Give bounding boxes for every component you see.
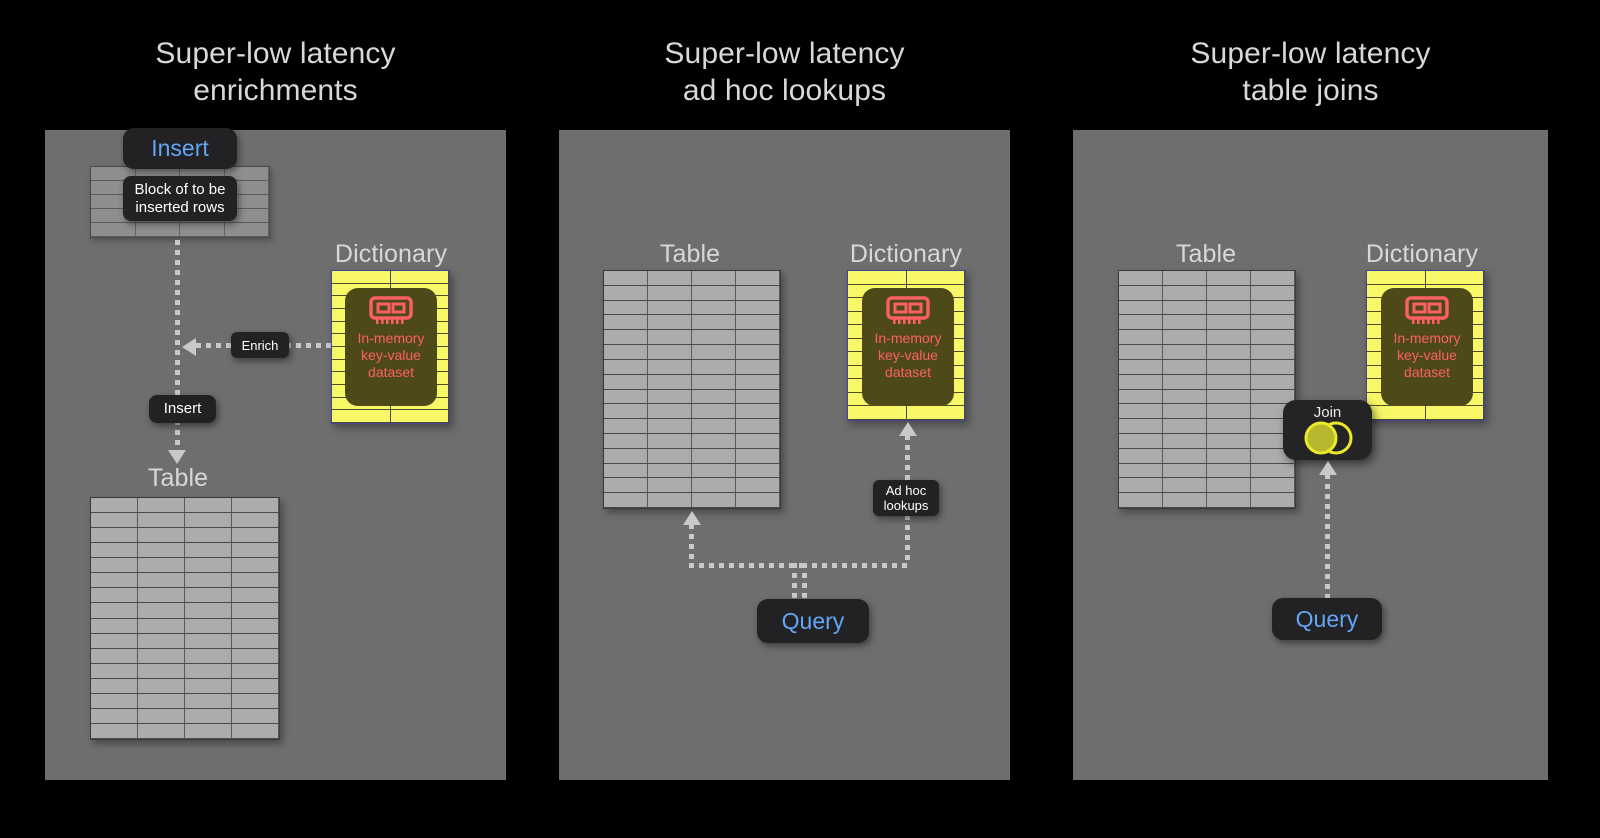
table-cell — [232, 573, 279, 588]
main-table-2 — [603, 270, 781, 509]
panel-title-ad-hoc-lookups: Super-low latency ad hoc lookups — [559, 35, 1010, 109]
in-memory-dataset-box-1: In-memory key-value dataset — [345, 288, 437, 406]
table-cell — [232, 664, 279, 679]
table-cell — [138, 709, 185, 724]
table-cell — [185, 573, 232, 588]
table-cell — [1119, 375, 1163, 390]
table-cell — [1119, 271, 1163, 286]
table-cell — [1207, 315, 1251, 330]
table-cell — [138, 649, 185, 664]
table-cell — [1119, 419, 1163, 434]
ram-memory-icon — [886, 296, 930, 326]
table-cell — [648, 330, 692, 345]
table-query-arrowhead — [683, 511, 701, 525]
table-cell — [736, 345, 780, 360]
table-cell — [736, 315, 780, 330]
table-cell — [736, 464, 780, 479]
table-cell — [604, 345, 648, 360]
table-cell — [736, 434, 780, 449]
table-cell — [232, 709, 279, 724]
table-cell — [185, 513, 232, 528]
table-cell — [604, 330, 648, 345]
table-cell — [138, 513, 185, 528]
table-cell — [1207, 301, 1251, 316]
dictionary-cell — [1426, 271, 1485, 285]
table-cell — [692, 464, 736, 479]
table-cell — [1163, 345, 1207, 360]
table-cell — [91, 558, 138, 573]
table-cell — [736, 478, 780, 493]
table-cell — [736, 301, 780, 316]
dictionary-cell — [332, 271, 391, 284]
table-cell — [692, 345, 736, 360]
table-cell — [1207, 345, 1251, 360]
table-cell — [1163, 449, 1207, 464]
table-cell — [1207, 478, 1251, 493]
table-cell — [138, 619, 185, 634]
table-cell — [604, 419, 648, 434]
table-cell — [692, 390, 736, 405]
table-cell — [1119, 449, 1163, 464]
table-cell — [138, 558, 185, 573]
table-label-3: Table — [1086, 236, 1326, 273]
dictionary-cell — [1367, 271, 1426, 285]
block-note-pill[interactable]: Block of to be inserted rows — [123, 176, 237, 221]
diagram-canvas: Super-low latency enrichments Insert Blo… — [0, 0, 1600, 838]
table-cell — [185, 588, 232, 603]
table-cell — [648, 360, 692, 375]
table-cell — [91, 694, 138, 709]
table-cell — [736, 390, 780, 405]
table-query-horizontal — [689, 563, 807, 568]
panel-ad-hoc-lookups: Table Dictionary In-memory key-value dat… — [559, 130, 1010, 780]
table-cell — [1119, 330, 1163, 345]
table-cell — [1251, 360, 1295, 375]
table-cell — [232, 528, 279, 543]
query-pill-2[interactable]: Query — [757, 599, 869, 643]
table-cell — [91, 528, 138, 543]
table-cell — [1163, 360, 1207, 375]
table-cell — [232, 694, 279, 709]
table-cell — [604, 301, 648, 316]
table-cell — [692, 419, 736, 434]
dictionary-label-2: Dictionary — [786, 236, 1026, 273]
table-cell — [91, 679, 138, 694]
table-cell — [1163, 478, 1207, 493]
table-cell — [1251, 271, 1295, 286]
table-cell — [1163, 404, 1207, 419]
table-cell — [648, 478, 692, 493]
join-query-arrowhead — [1319, 461, 1337, 475]
insert-top-label: Insert — [151, 135, 209, 162]
table-cell — [736, 330, 780, 345]
table-cell — [138, 724, 185, 739]
table-cell — [1251, 493, 1295, 508]
panel-title-enrichments: Super-low latency enrichments — [45, 35, 506, 109]
table-cell — [692, 449, 736, 464]
table-cell — [91, 588, 138, 603]
table-cell — [1251, 330, 1295, 345]
table-cell — [138, 528, 185, 543]
table-cell — [225, 223, 270, 237]
table-cell — [138, 588, 185, 603]
table-cell — [232, 543, 279, 558]
table-cell — [1163, 330, 1207, 345]
table-cell — [692, 404, 736, 419]
table-cell — [736, 449, 780, 464]
table-cell — [1207, 330, 1251, 345]
table-cell — [232, 513, 279, 528]
table-cell — [1119, 464, 1163, 479]
table-cell — [91, 513, 138, 528]
ram-memory-icon — [1405, 296, 1449, 326]
ad-hoc-lookups-label: Ad hoc lookups — [884, 483, 929, 513]
table-cell — [648, 464, 692, 479]
in-memory-dataset-label-2: In-memory key-value dataset — [875, 330, 942, 381]
table-cell — [1207, 375, 1251, 390]
dictionary-cell — [332, 410, 391, 423]
insert-bottom-pill[interactable]: Insert — [149, 395, 216, 423]
table-cell — [180, 223, 225, 237]
table-cell — [1207, 286, 1251, 301]
in-memory-dataset-box-3: In-memory key-value dataset — [1381, 288, 1473, 406]
query-label-2: Query — [782, 608, 845, 635]
dictionary-cell — [391, 271, 450, 284]
table-cell — [138, 603, 185, 618]
table-label-2: Table — [570, 236, 810, 273]
table-cell — [736, 375, 780, 390]
panel-enrichments: Insert Block of to be inserted rows Inse… — [45, 130, 506, 780]
table-cell — [136, 223, 181, 237]
table-cell — [1251, 345, 1295, 360]
table-cell — [1207, 390, 1251, 405]
table-cell — [1251, 464, 1295, 479]
table-cell — [692, 434, 736, 449]
table-cell — [692, 301, 736, 316]
table-cell — [1163, 286, 1207, 301]
table-cell — [1207, 493, 1251, 508]
table-cell — [1163, 315, 1207, 330]
query-right-riser — [792, 563, 797, 603]
table-cell — [604, 449, 648, 464]
insert-bottom-label: Insert — [164, 400, 202, 418]
table-cell — [648, 493, 692, 508]
dictionary-cell — [1426, 406, 1485, 420]
table-cell — [91, 664, 138, 679]
table-cell — [648, 271, 692, 286]
table-cell — [692, 271, 736, 286]
main-table-1 — [90, 497, 280, 740]
enrich-pill[interactable]: Enrich — [231, 332, 289, 358]
table-cell — [648, 449, 692, 464]
table-cell — [648, 315, 692, 330]
table-cell — [185, 619, 232, 634]
table-cell — [1119, 390, 1163, 405]
enrich-label: Enrich — [242, 338, 279, 353]
dictionary-cell — [907, 271, 966, 285]
table-cell — [604, 286, 648, 301]
table-cell — [648, 286, 692, 301]
table-cell — [604, 434, 648, 449]
table-cell — [736, 286, 780, 301]
table-cell — [1163, 434, 1207, 449]
table-cell — [736, 271, 780, 286]
table-query-vertical — [689, 524, 694, 566]
dictionary-lookup-horizontal — [792, 563, 910, 568]
table-cell — [1163, 271, 1207, 286]
table-cell — [1119, 434, 1163, 449]
table-cell — [91, 603, 138, 618]
panel-table-joins: Table Dictionary In-memory key-value dat… — [1073, 130, 1548, 780]
table-cell — [185, 558, 232, 573]
table-cell — [692, 330, 736, 345]
table-cell — [138, 634, 185, 649]
table-cell — [1251, 301, 1295, 316]
table-cell — [648, 375, 692, 390]
table-cell — [91, 223, 136, 237]
table-cell — [736, 493, 780, 508]
table-cell — [604, 478, 648, 493]
venn-diagram-icon — [1295, 420, 1361, 456]
table-cell — [232, 588, 279, 603]
table-cell — [185, 679, 232, 694]
query-pill-3[interactable]: Query — [1272, 598, 1382, 640]
table-cell — [91, 543, 138, 558]
dictionary-cell — [391, 410, 450, 423]
block-note-label: Block of to be inserted rows — [135, 181, 226, 217]
table-cell — [232, 724, 279, 739]
table-label-1: Table — [58, 460, 298, 497]
ram-memory-icon — [369, 296, 413, 326]
table-cell — [1251, 375, 1295, 390]
table-cell — [1119, 404, 1163, 419]
table-cell — [736, 360, 780, 375]
query-label-3: Query — [1296, 606, 1359, 633]
table-cell — [1251, 478, 1295, 493]
table-cell — [185, 634, 232, 649]
table-cell — [604, 375, 648, 390]
table-cell — [185, 664, 232, 679]
table-cell — [604, 404, 648, 419]
table-cell — [692, 375, 736, 390]
table-cell — [1119, 478, 1163, 493]
table-cell — [91, 724, 138, 739]
in-memory-dataset-box-2: In-memory key-value dataset — [862, 288, 954, 406]
ad-hoc-lookups-pill[interactable]: Ad hoc lookups — [873, 480, 939, 516]
join-query-connector — [1325, 474, 1330, 598]
table-cell — [1163, 493, 1207, 508]
table-cell — [185, 528, 232, 543]
table-cell — [692, 478, 736, 493]
in-memory-dataset-label-1: In-memory key-value dataset — [358, 330, 425, 381]
table-cell — [692, 286, 736, 301]
table-cell — [1119, 360, 1163, 375]
table-cell — [1251, 315, 1295, 330]
table-cell — [1251, 286, 1295, 301]
table-cell — [138, 573, 185, 588]
insert-top-pill[interactable]: Insert — [123, 128, 237, 169]
dictionary-cell — [907, 406, 966, 420]
table-cell — [91, 619, 138, 634]
table-cell — [692, 493, 736, 508]
dictionary-cell — [848, 406, 907, 420]
main-table-3 — [1118, 270, 1296, 509]
table-cell — [138, 694, 185, 709]
dictionary-label-1: Dictionary — [271, 236, 511, 273]
panel-title-table-joins: Super-low latency table joins — [1073, 35, 1548, 109]
table-cell — [692, 315, 736, 330]
table-cell — [138, 664, 185, 679]
table-cell — [1163, 390, 1207, 405]
dictionary-cell — [1367, 406, 1426, 420]
table-cell — [604, 390, 648, 405]
table-cell — [185, 603, 232, 618]
table-cell — [1119, 493, 1163, 508]
table-cell — [1163, 419, 1207, 434]
table-cell — [1163, 375, 1207, 390]
table-cell — [1207, 464, 1251, 479]
table-cell — [185, 709, 232, 724]
table-cell — [692, 360, 736, 375]
table-cell — [91, 498, 138, 513]
table-cell — [138, 543, 185, 558]
table-cell — [185, 694, 232, 709]
table-cell — [91, 709, 138, 724]
table-cell — [91, 634, 138, 649]
table-cell — [736, 419, 780, 434]
table-cell — [91, 573, 138, 588]
table-cell — [648, 390, 692, 405]
dictionary-lookup-arrowhead — [899, 422, 917, 436]
table-cell — [1207, 271, 1251, 286]
table-cell — [232, 679, 279, 694]
table-cell — [1207, 434, 1251, 449]
table-cell — [1207, 419, 1251, 434]
table-cell — [604, 315, 648, 330]
table-cell — [185, 543, 232, 558]
table-cell — [736, 404, 780, 419]
table-cell — [604, 271, 648, 286]
table-cell — [138, 679, 185, 694]
join-pill[interactable]: Join — [1283, 400, 1372, 460]
table-cell — [138, 498, 185, 513]
table-cell — [185, 498, 232, 513]
table-cell — [232, 619, 279, 634]
table-cell — [185, 649, 232, 664]
table-cell — [232, 498, 279, 513]
table-cell — [232, 634, 279, 649]
table-cell — [604, 464, 648, 479]
table-cell — [1207, 449, 1251, 464]
dictionary-cell — [848, 271, 907, 285]
table-cell — [1119, 301, 1163, 316]
table-cell — [604, 360, 648, 375]
table-cell — [1163, 301, 1207, 316]
table-cell — [1119, 345, 1163, 360]
table-cell — [648, 434, 692, 449]
table-cell — [648, 404, 692, 419]
table-cell — [1207, 404, 1251, 419]
table-cell — [604, 493, 648, 508]
table-cell — [648, 301, 692, 316]
dictionary-label-3: Dictionary — [1302, 236, 1542, 273]
enrich-arrowhead — [182, 338, 196, 356]
query-left-riser — [802, 563, 807, 603]
table-cell — [1119, 286, 1163, 301]
table-cell — [185, 724, 232, 739]
table-cell — [648, 345, 692, 360]
table-cell — [232, 603, 279, 618]
table-cell — [1207, 360, 1251, 375]
join-label: Join — [1314, 404, 1342, 421]
table-cell — [91, 649, 138, 664]
in-memory-dataset-label-3: In-memory key-value dataset — [1394, 330, 1461, 381]
table-cell — [648, 419, 692, 434]
table-cell — [232, 649, 279, 664]
table-cell — [1163, 464, 1207, 479]
table-cell — [232, 558, 279, 573]
table-cell — [1119, 315, 1163, 330]
